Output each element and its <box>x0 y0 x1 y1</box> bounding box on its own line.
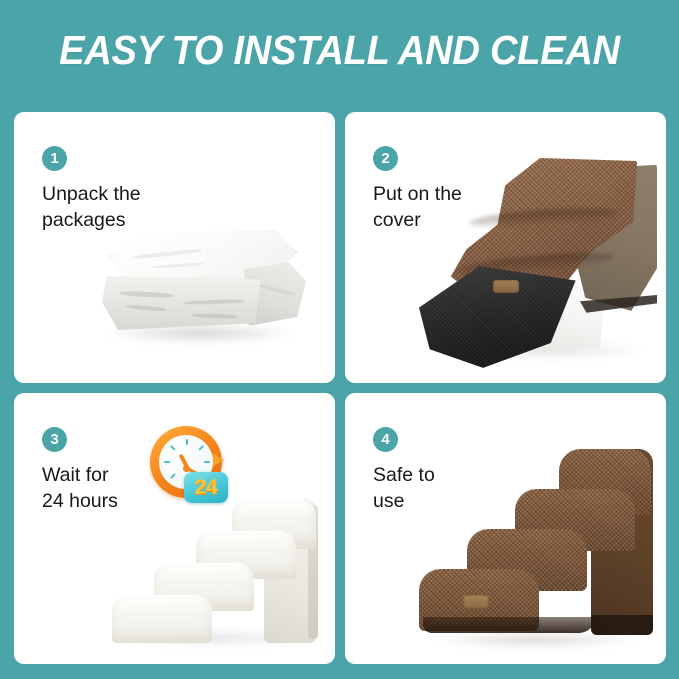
step-caption-4: Safe to use <box>373 463 513 515</box>
brand-tag-icon <box>493 280 519 293</box>
clock-tick <box>186 439 188 445</box>
foam-step-1 <box>112 595 212 643</box>
hours-badge: 24 <box>184 472 228 503</box>
stairs-side-base <box>591 615 653 635</box>
package-bale-graphic <box>92 230 307 350</box>
step-panel-4: 4 Safe to use <box>345 393 666 664</box>
step-number-badge-2: 2 <box>373 146 398 171</box>
hours-badge-label: 24 <box>195 477 217 498</box>
header-banner: EASY TO INSTALL AND CLEAN <box>0 0 679 100</box>
clock-tick <box>164 461 170 463</box>
page-title: EASY TO INSTALL AND CLEAN <box>59 27 620 74</box>
clock-tick <box>170 473 176 479</box>
steps-grid: 1 Unpack the packages 2 Put on the cover <box>14 112 666 665</box>
step-panel-1: 1 Unpack the packages <box>14 112 335 383</box>
stairs-base-shadow <box>423 617 595 633</box>
step-number-badge-3: 3 <box>42 427 67 452</box>
step-number-badge-4: 4 <box>373 427 398 452</box>
clock-tick <box>198 445 204 451</box>
brand-tag-icon <box>463 595 489 609</box>
step-number-badge-1: 1 <box>42 146 67 171</box>
clock-tick <box>170 445 176 451</box>
24-hour-clock-icon: 24 <box>148 424 232 508</box>
clock-pivot <box>183 465 190 472</box>
clock-tick <box>204 461 210 463</box>
step-panel-2: 2 Put on the cover <box>345 112 666 383</box>
step-caption-2: Put on the cover <box>373 182 513 234</box>
step-caption-1: Unpack the packages <box>42 182 182 234</box>
